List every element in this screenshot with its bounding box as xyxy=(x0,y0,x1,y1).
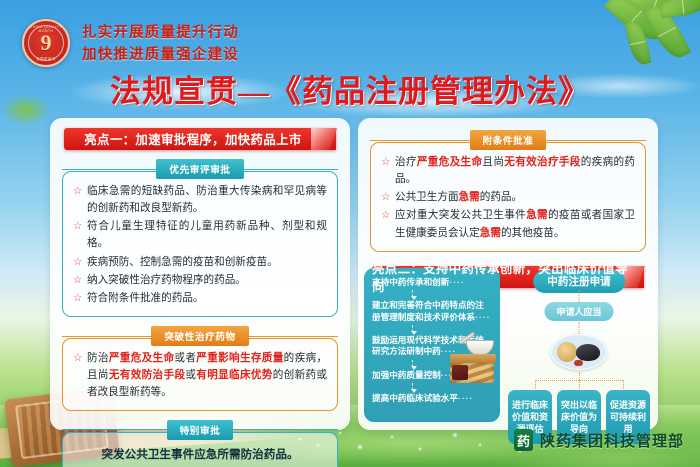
down-arrow-icon xyxy=(412,383,413,390)
down-arrow-icon xyxy=(412,325,413,332)
list-item: 治疗严重危及生命且尚无有效治疗手段的疾病的药品。 xyxy=(381,154,635,188)
section-label-breakthrough-text: 突破性治疗药物 xyxy=(151,326,248,346)
slogan-line-2: 加快推进质量强企建设 xyxy=(82,44,239,66)
tcm-step: 建立和完善符合中药特点的注册管理制度和技术评价体系···· xyxy=(372,300,492,323)
tcm-herbs-illustration xyxy=(551,334,607,370)
list-item: 临床急需的短缺药品、防治重大传染病和罕见病等的创新药和改良型新药。 xyxy=(73,183,327,217)
panel-highlight-one: 亮点一：加速审批程序，加快药品上市 优先审评审批 临床急需的短缺药品、防治重大传… xyxy=(50,118,350,430)
footer-branding: 药 陕药集团科技管理部 xyxy=(514,429,684,451)
campaign-slogan: 扎实开展质量提升行动 加快推进质量强企建设 xyxy=(82,22,239,67)
down-arrow-icon xyxy=(412,360,413,367)
list-item: 符合儿童生理特征的儿童用药新品种、剂型和规格。 xyxy=(73,218,327,252)
mortar-pestle-icon xyxy=(444,338,496,384)
list-item: 应对重大突发公共卫生事件急需的疫苗或者国家卫生健康委员会认定急需的其他疫苗。 xyxy=(381,207,635,241)
ribbon-highlight-one: 亮点一：加速审批程序，加快药品上市 xyxy=(64,128,336,150)
ribbon-highlight-two: 亮点二：支持中药传承创新，突出临床价值导向 xyxy=(372,266,644,288)
section-label-priority-review-text: 优先审评审批 xyxy=(156,159,243,179)
panel-highlight-two: 附条件批准 治疗严重危及生命且尚无有效治疗手段的疾病的药品。公共卫生方面急需的药… xyxy=(358,118,658,430)
tcm-step: 提高中药临床试验水平···· xyxy=(372,393,492,404)
section-label-conditional-approval-text: 附条件批准 xyxy=(470,130,547,150)
box-priority-review: 临床急需的短缺药品、防治重大传染病和罕见病等的创新药和改良型新药。符合儿童生理特… xyxy=(62,171,338,317)
list-item: 公共卫生方面急需的药品。 xyxy=(381,189,635,206)
logo-text-top: CHINA QUALITY MONTH xyxy=(24,25,68,33)
ribbon-one-label: 亮点一：加速审批程序，加快药品上市 xyxy=(84,130,315,148)
list-item: 纳入突破性治疗药物程序的药品。 xyxy=(73,272,327,289)
china-quality-month-logo: CHINA QUALITY MONTH 9 全国质量月 xyxy=(22,19,70,67)
breakthrough-paragraph: 防治严重危及生命或者严重影响生存质量的疾病，且尚无有效防治手段或有明显临床优势的… xyxy=(73,350,327,401)
ribbon-two-label: 亮点二：支持中药传承创新，突出临床价值导向 xyxy=(372,259,644,295)
connector-mid xyxy=(579,322,580,334)
footer-org-name: 陕药集团科技管理部 xyxy=(540,430,684,451)
box-conditional-approval: 治疗严重危及生命且尚无有效治疗手段的疾病的药品。公共卫生方面急需的药品。应对重大… xyxy=(370,142,646,252)
box-breakthrough-therapy: 防治严重危及生命或者严重影响生存质量的疾病，且尚无有效防治手段或有明显临床优势的… xyxy=(62,338,338,410)
shaanxi-pharma-logo: 药 xyxy=(514,429,533,451)
conditional-approval-list: 治疗严重危及生命且尚无有效治疗手段的疾病的药品。公共卫生方面急需的药品。应对重大… xyxy=(381,154,635,242)
node-applicant-shall: 申请人应当 xyxy=(544,302,613,321)
section-label-special-approval-text: 特别审批 xyxy=(167,420,234,440)
connector-branch xyxy=(514,372,644,388)
slogan-line-1: 扎实开展质量提升行动 xyxy=(82,22,239,44)
list-item: 符合附条件批准的药品。 xyxy=(73,290,327,307)
page-title: 法规宣贯—《药品注册管理办法》 xyxy=(0,66,700,111)
list-item: 疾病预防、控制急需的疫苗和创新疫苗。 xyxy=(73,254,327,271)
priority-review-list: 临床急需的短缺药品、防治重大传染病和罕见病等的创新药和改良型新药。符合儿童生理特… xyxy=(73,183,327,307)
logo-text-bottom: 全国质量月 xyxy=(24,56,68,61)
special-approval-text: 突发公共卫生事件应急所需防治药品。 xyxy=(73,444,327,467)
